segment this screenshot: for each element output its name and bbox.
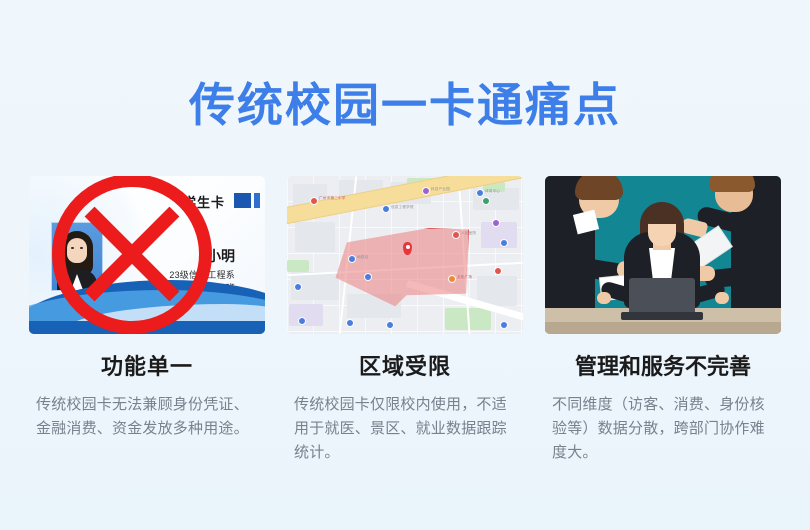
map-poi [347, 320, 353, 326]
student-department: 23级信息工程系 [169, 268, 235, 281]
card-corner-square-icon [234, 193, 251, 208]
left-colleague-collar [573, 210, 599, 235]
map-commercial [289, 304, 323, 326]
card-type-label: 学生卡 [183, 192, 225, 211]
map-poi [365, 274, 371, 280]
map-poi-label: 体育中心 [485, 189, 500, 194]
map-poi-label: 地铁站 [357, 255, 368, 260]
map-image: 广州市第二中学 信息工程学院 科技产业园 体育中心 人民医院 文化广场 地铁站 [287, 176, 523, 334]
map-commercial [481, 222, 517, 248]
photo-eye-left [71, 247, 74, 249]
pain-point-columns: 学生卡 小明 23级信息工程系 软件技术2班 [0, 176, 810, 496]
laptop-screen [629, 278, 695, 314]
map-poi [501, 322, 507, 328]
card-description: 传统校园卡无法兼顾身份凭证、金融消费、资金发放多种用途。 [36, 393, 258, 441]
desk-front-edge [545, 322, 781, 334]
map-canvas: 广州市第二中学 信息工程学院 科技产业园 体育中心 人民医院 文化广场 地铁站 [287, 176, 523, 334]
card-description: 传统校园卡仅限校内使用，不适用于就医、景区、就业数据跟踪统计。 [294, 393, 516, 465]
map-poi [493, 220, 499, 226]
map-block [295, 222, 335, 252]
left-colleague-hair [575, 176, 623, 200]
student-photo [51, 222, 103, 291]
map-poi [299, 318, 305, 324]
laptop-base [621, 312, 703, 320]
map-poi [501, 240, 507, 246]
map-poi [423, 188, 429, 194]
map-poi [383, 206, 389, 212]
photo-eye-right [80, 247, 83, 249]
office-illustration-image [545, 176, 781, 334]
map-poi [477, 190, 483, 196]
map-poi [453, 232, 459, 238]
student-name: 小明 [207, 246, 235, 266]
card-corner-bar-icon [254, 193, 260, 208]
map-poi-label: 科技产业园 [431, 187, 450, 192]
office-illustration [545, 176, 781, 334]
student-id-card-image: 学生卡 小明 23级信息工程系 软件技术2班 [29, 176, 265, 334]
photo-face [67, 238, 87, 263]
pain-point-card-area-limited: 广州市第二中学 信息工程学院 科技产业园 体育中心 人民医院 文化广场 地铁站 [280, 176, 530, 496]
map-poi-label: 信息工程学院 [391, 205, 414, 210]
slide-root: 传统校园一卡通痛点 学生卡 [0, 0, 810, 530]
student-id-card: 学生卡 小明 23级信息工程系 软件技术2班 [29, 176, 265, 334]
card-heading: 管理和服务不完善 [575, 354, 751, 380]
map-poi [311, 198, 317, 204]
id-card-backdrop: 学生卡 小明 23级信息工程系 软件技术2班 [29, 176, 265, 334]
map-poi [349, 256, 355, 262]
woman-hand-left [597, 292, 611, 304]
woman-hand-right [715, 292, 729, 304]
pain-point-card-function-single: 学生卡 小明 23级信息工程系 软件技术2班 [22, 176, 272, 496]
map-poi [449, 276, 455, 282]
map-poi-label: 人民医院 [461, 231, 476, 236]
card-heading: 功能单一 [101, 354, 193, 380]
right-colleague-hair [709, 176, 755, 192]
pain-point-card-management-service: 管理和服务不完善 不同维度（访客、消费、身份核验等）数据分散，跨部门协作难度大。 [538, 176, 788, 496]
map-poi [295, 284, 301, 290]
map-poi-label: 文化广场 [457, 275, 472, 280]
card-bottom-band [29, 321, 265, 334]
map-poi [387, 322, 393, 328]
map-poi [495, 268, 501, 274]
map-park [287, 260, 309, 272]
card-description: 不同维度（访客、消费、身份核验等）数据分散，跨部门协作难度大。 [552, 393, 774, 465]
page-title: 传统校园一卡通痛点 [0, 78, 810, 132]
card-heading: 区域受限 [359, 354, 451, 380]
map-poi [483, 198, 489, 204]
map-poi-label: 广州市第二中学 [319, 196, 346, 201]
